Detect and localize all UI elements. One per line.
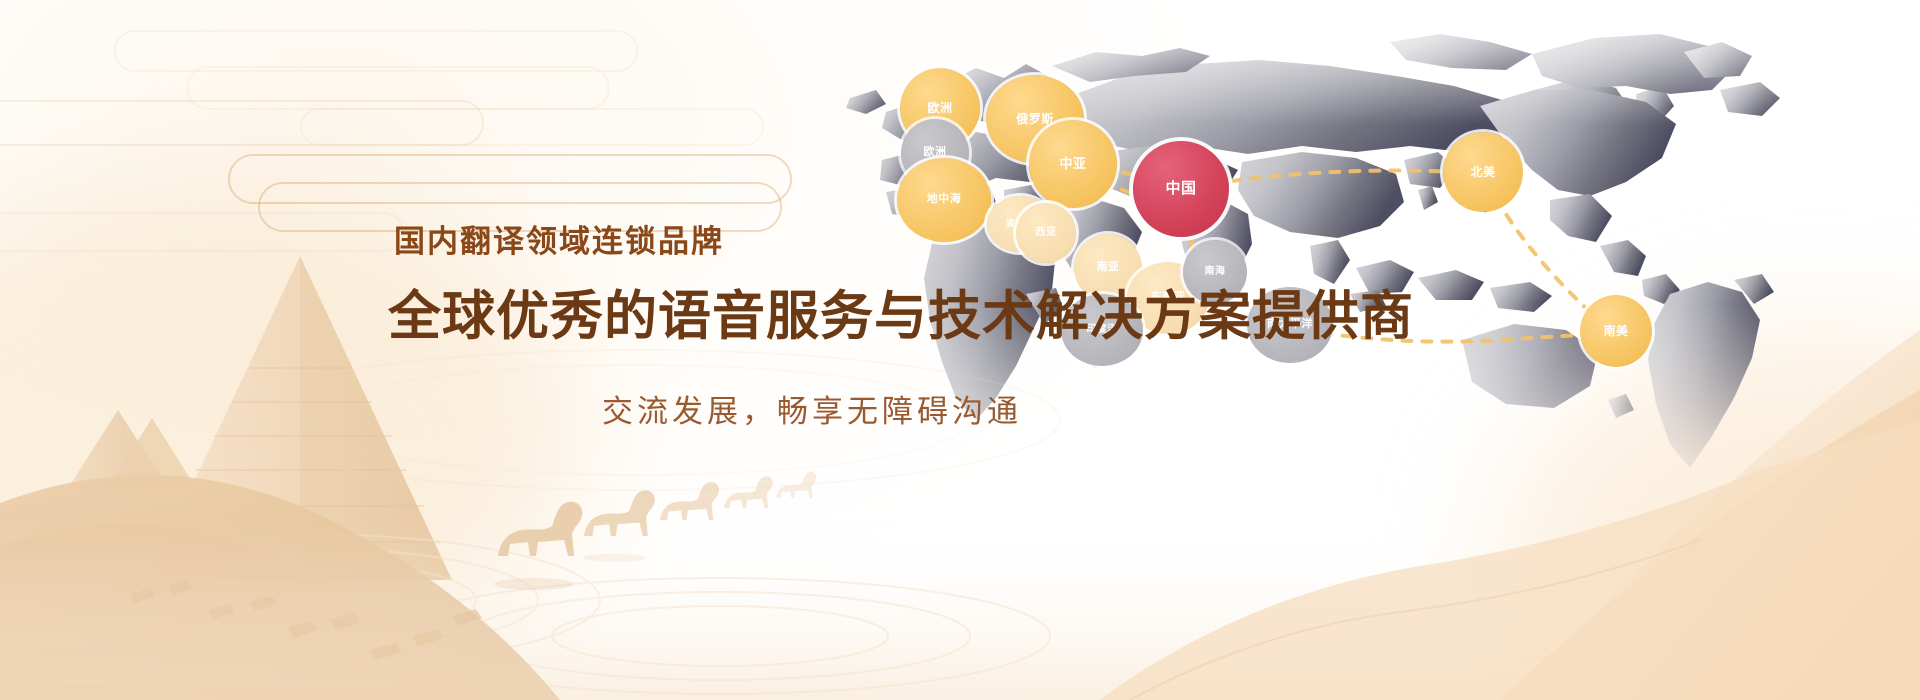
footprints: [130, 580, 482, 660]
pyramid-small: [68, 410, 196, 488]
map-node-central-asia[interactable]: 中亚: [1029, 120, 1117, 208]
banner-tagline: 交流发展，畅享无障碍沟通: [602, 386, 1248, 431]
sand-dune-left: [0, 475, 560, 700]
banner-eyebrow: 国内翻译领域连锁品牌: [394, 216, 1248, 261]
map-node-south-america[interactable]: 南美: [1580, 295, 1652, 367]
hero-copy: 国内翻译领域连锁品牌 全球优秀的语音服务与技术解决方案提供商 交流发展，畅享无障…: [388, 216, 1248, 431]
camel-caravan: [494, 472, 817, 590]
hero-banner: 欧洲欧洲俄罗斯中亚中国地中海波斯湾西亚南亚东南亚南海印度洋南太平洋北美南美: [0, 0, 1920, 700]
banner-headline: 全球优秀的语音服务与技术解决方案提供商: [388, 287, 1248, 346]
map-node-north-america[interactable]: 北美: [1443, 132, 1523, 212]
